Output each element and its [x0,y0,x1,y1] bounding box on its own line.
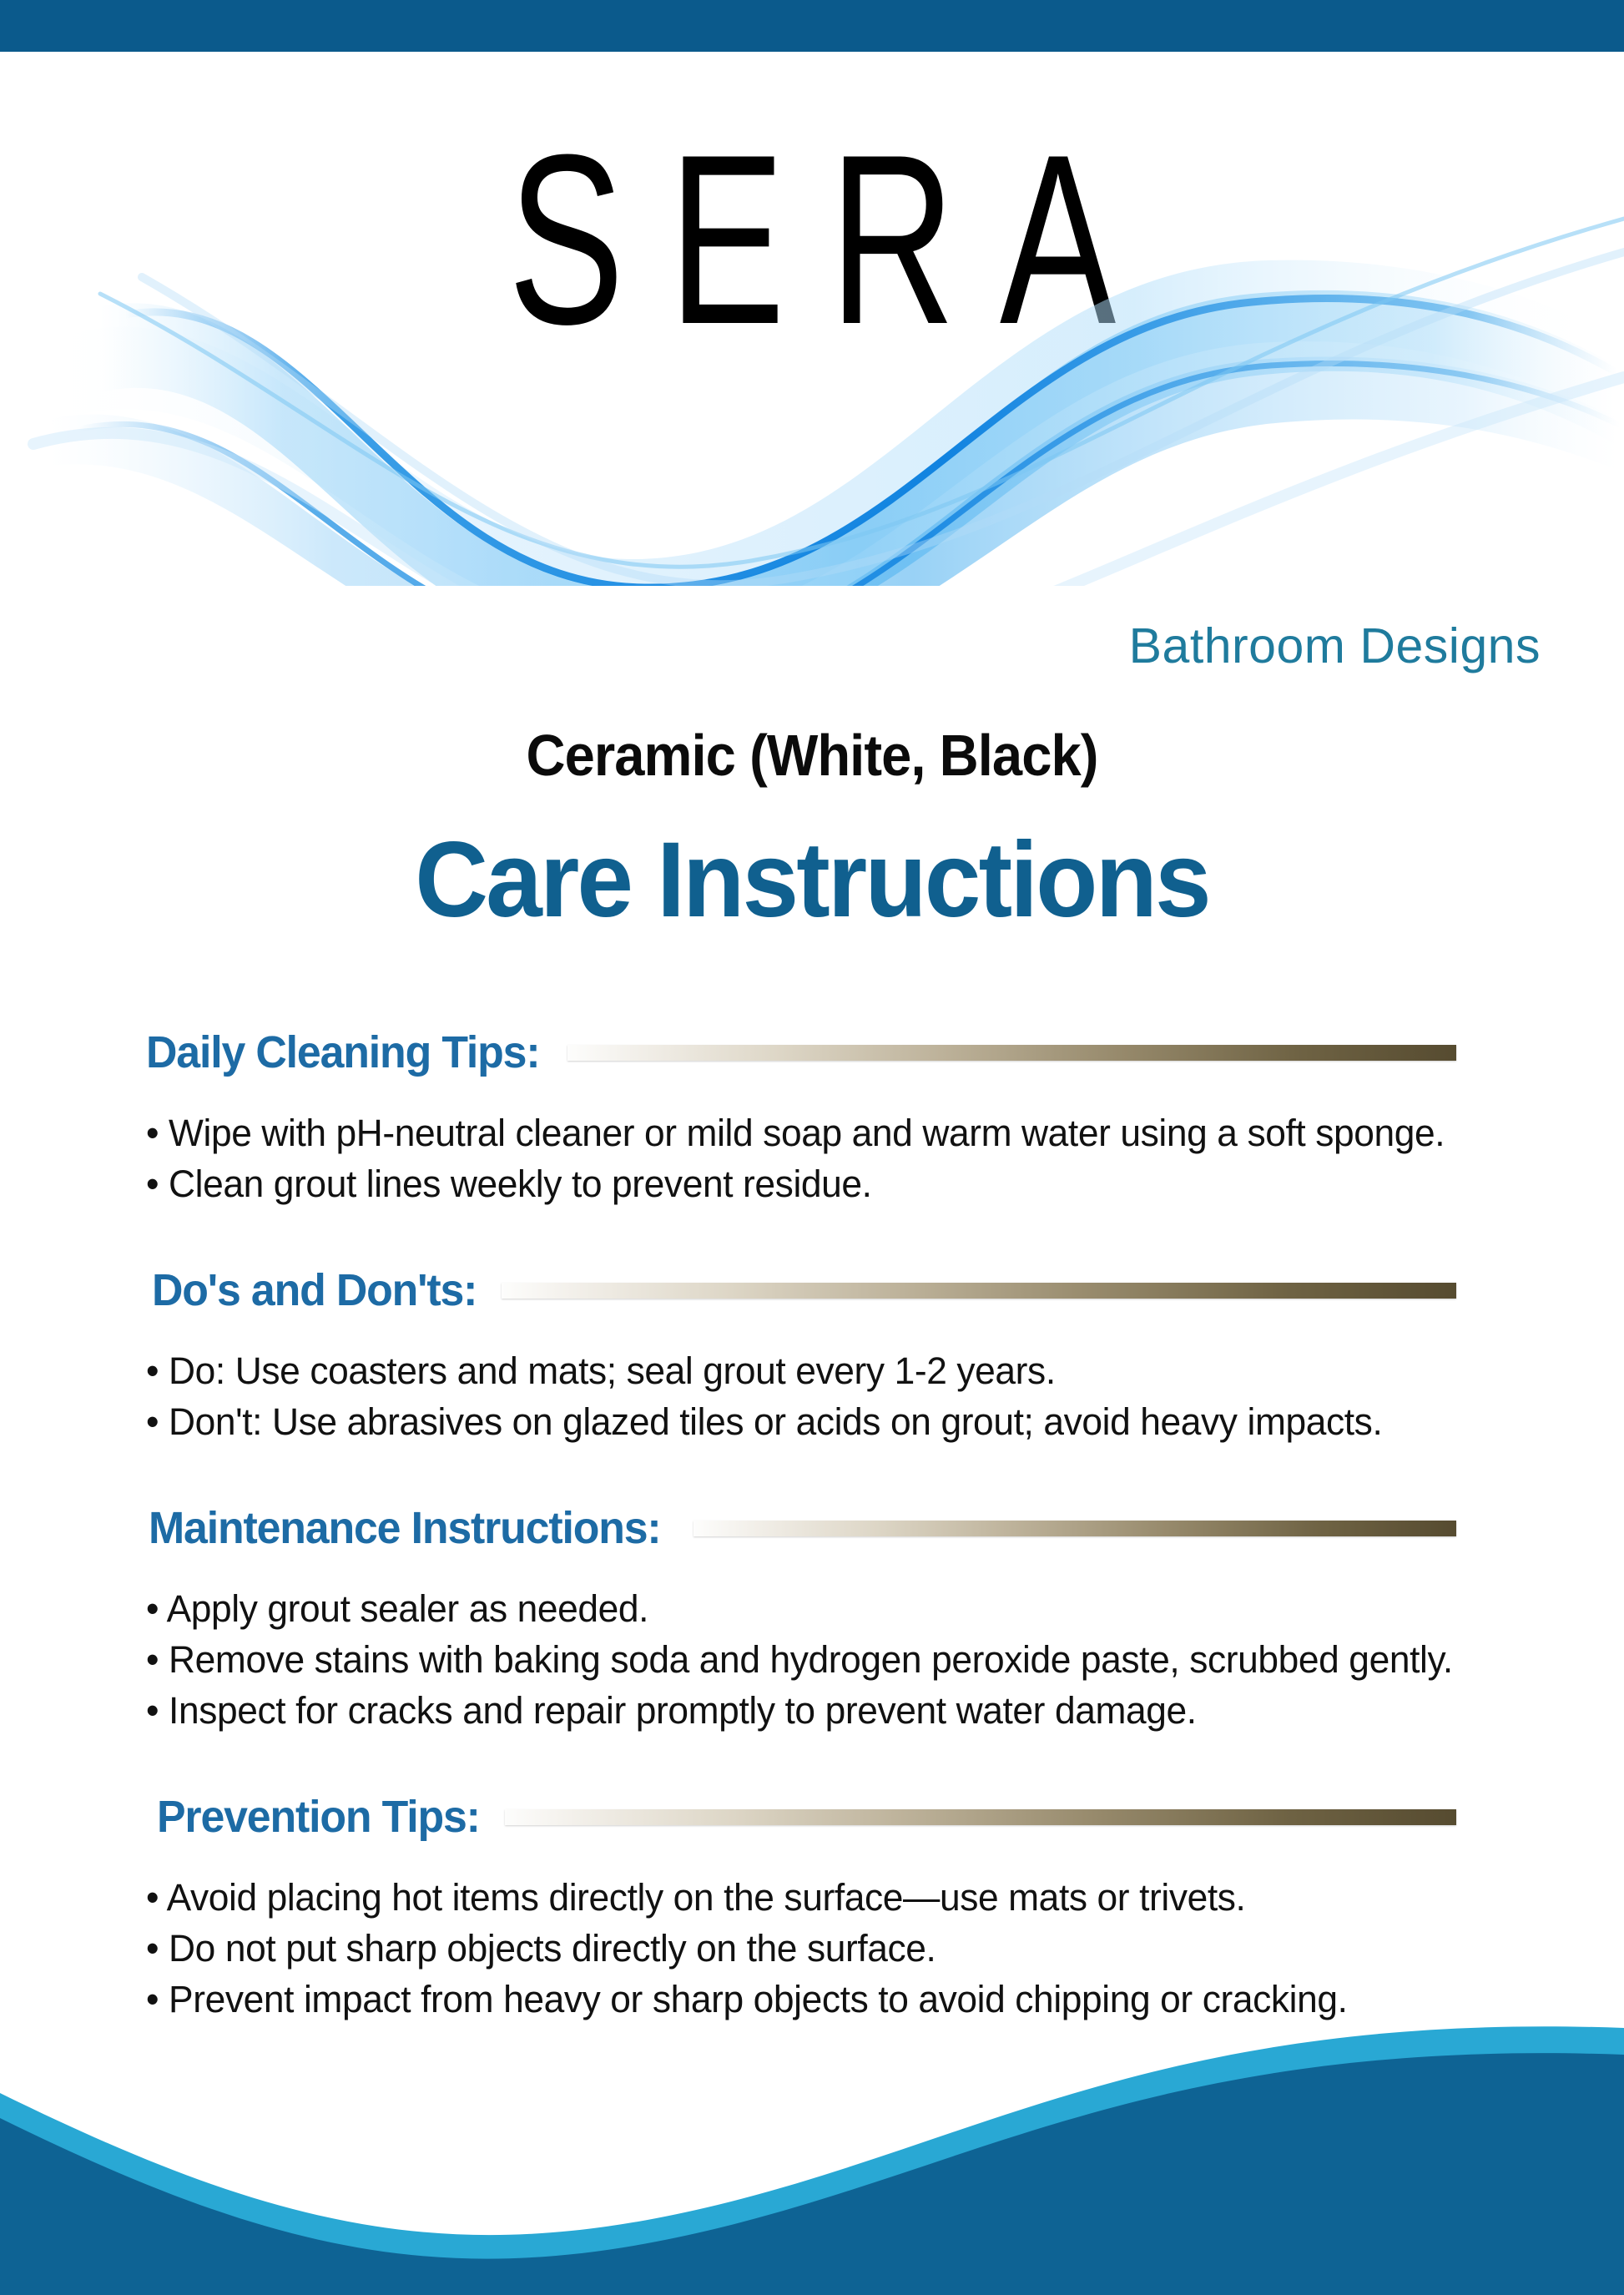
brand-logo-block: SERA [0,52,1624,711]
list-item: • Prevent impact from heavy or sharp obj… [146,1980,1503,2019]
section-heading: Daily Cleaning Tips: [146,1027,539,1077]
list-item: • Avoid placing hot items directly on th… [146,1879,1503,1917]
care-section: Do's and Don'ts:• Do: Use coasters and m… [0,1260,1624,1498]
spacer [0,1320,1624,1352]
section-header: Prevention Tips: [0,1787,1624,1847]
section-header: Do's and Don'ts: [0,1260,1624,1320]
footer-wave-icon [0,2020,1624,2295]
brand-tagline: Bathroom Designs [0,619,1624,673]
section-header: Daily Cleaning Tips: [0,1022,1624,1082]
list-item: • Wipe with pH-neutral cleaner or mild s… [146,1114,1503,1153]
section-header: Maintenance Instructions: [0,1498,1624,1558]
bullet-list: • Apply grout sealer as needed.• Remove … [0,1590,1624,1730]
care-section: Prevention Tips:• Avoid placing hot item… [0,1787,1624,2019]
list-item: • Do: Use coasters and mats; seal grout … [146,1352,1503,1390]
wave-stroke-secondary [79,364,1621,586]
care-section: Maintenance Instructions:• Apply grout s… [0,1498,1624,1787]
list-item: • Apply grout sealer as needed. [146,1590,1503,1628]
list-item: • Don't: Use abrasives on glazed tiles o… [146,1403,1503,1441]
spacer [0,1558,1624,1590]
spacer [0,1441,1624,1498]
top-accent-bar [0,0,1624,52]
wave-tendril-lower [33,377,1624,586]
wave-band-secondary [50,357,1619,586]
section-divider-rule [502,1283,1456,1299]
footer-wave-dark [0,2053,1624,2295]
section-heading: Prevention Tips: [157,1792,480,1842]
spacer [0,1730,1624,1787]
bullet-list: • Do: Use coasters and mats; seal grout … [0,1352,1624,1441]
brand-wordmark: SERA [227,119,1396,361]
list-item: • Clean grout lines weekly to prevent re… [146,1165,1503,1203]
bullet-list: • Avoid placing hot items directly on th… [0,1879,1624,2019]
section-heading: Maintenance Instructions: [149,1503,661,1553]
spacer [0,1847,1624,1879]
section-divider-rule [567,1045,1456,1061]
spacer [0,1082,1624,1114]
list-item: • Remove stains with baking soda and hyd… [146,1641,1503,1679]
care-section: Daily Cleaning Tips:• Wipe with pH-neutr… [0,1022,1624,1260]
bullet-list: • Wipe with pH-neutral cleaner or mild s… [0,1114,1624,1203]
spacer [0,1203,1624,1260]
subject-title: Ceramic (White, Black) [57,722,1567,789]
section-divider-rule [505,1809,1456,1825]
list-item: • Do not put sharp objects directly on t… [146,1929,1503,1968]
list-item: • Inspect for cracks and repair promptly… [146,1692,1503,1730]
care-instruction-sections: Daily Cleaning Tips:• Wipe with pH-neutr… [0,1022,1624,2019]
section-divider-rule [693,1521,1456,1536]
page-title: Care Instructions [41,822,1584,939]
section-heading: Do's and Don'ts: [152,1265,477,1315]
